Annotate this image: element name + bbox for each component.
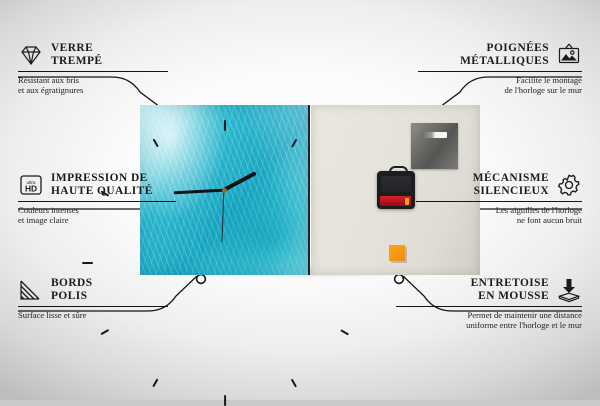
clock-mechanism [377,171,415,209]
divider [18,201,176,202]
tick-6 [224,395,226,406]
divider [418,71,582,72]
feature-desc: Facilite le montage de l'horloge sur le … [418,75,582,95]
feature-poignees-metalliques: POIGNÉES MÉTALLIQUES Facilite le montage… [418,42,582,95]
clock-hour-hand [223,171,257,192]
tick-12 [224,120,226,131]
infographic-canvas: VERRE TREMPÉ Résistant aux bris et aux é… [0,0,600,400]
feature-title: BORDS POLIS [51,277,93,302]
diagonal-lines-icon [18,277,44,303]
feature-title: MÉCANISME SILENCIEUX [473,172,549,197]
feature-bords-polis: BORDS POLIS Surface lisse et sûre [18,277,168,320]
clock-minute-hand [174,188,224,194]
feature-verre-trempe: VERRE TREMPÉ Résistant aux bris et aux é… [18,42,168,95]
feature-title: IMPRESSION DE HAUTE QUALITÉ [51,172,153,197]
feature-desc: Surface lisse et sûre [18,310,168,320]
gear-icon [556,172,582,198]
metal-hanger-plate [411,123,458,169]
feature-title: VERRE TREMPÉ [51,42,102,67]
clock-second-hand [222,190,225,242]
feature-title: POIGNÉES MÉTALLIQUES [460,42,549,67]
feature-desc: Couleurs intenses et image claire [18,205,176,225]
divider [18,306,168,307]
arrow-down-onto-pad-icon [556,277,582,303]
svg-text:HD: HD [25,184,37,194]
framed-picture-hanger-icon [556,42,582,68]
clock-pivot [222,188,227,193]
mechanism-hanging-loop [389,166,408,176]
foam-spacer [389,245,405,261]
feature-title: ENTRETOISE EN MOUSSE [471,277,549,302]
feature-desc: Résistant aux bris et aux égratignures [18,75,168,95]
divider [416,201,582,202]
mechanism-body [381,176,411,192]
divider [396,306,582,307]
diamond-icon [18,42,44,68]
tick-9 [82,262,93,264]
tick-1 [291,139,297,148]
feature-impression-haute-qualite: ultra HD IMPRESSION DE HAUTE QUALITÉ Cou… [18,172,176,225]
tick-11 [153,139,159,148]
feature-desc: Les aiguilles de l'horloge ne font aucun… [416,205,582,225]
divider [18,71,168,72]
ultra-hd-badge-icon: ultra HD [18,172,44,198]
feature-entretoise-en-mousse: ENTRETOISE EN MOUSSE Permet de maintenir… [396,277,582,330]
feature-desc: Permet de maintenir une distance uniform… [396,310,582,330]
hanger-slot [421,132,447,138]
battery-terminal [405,198,409,205]
feature-mecanisme-silencieux: MÉCANISME SILENCIEUX Les aiguilles de l'… [416,172,582,225]
battery [380,196,411,206]
